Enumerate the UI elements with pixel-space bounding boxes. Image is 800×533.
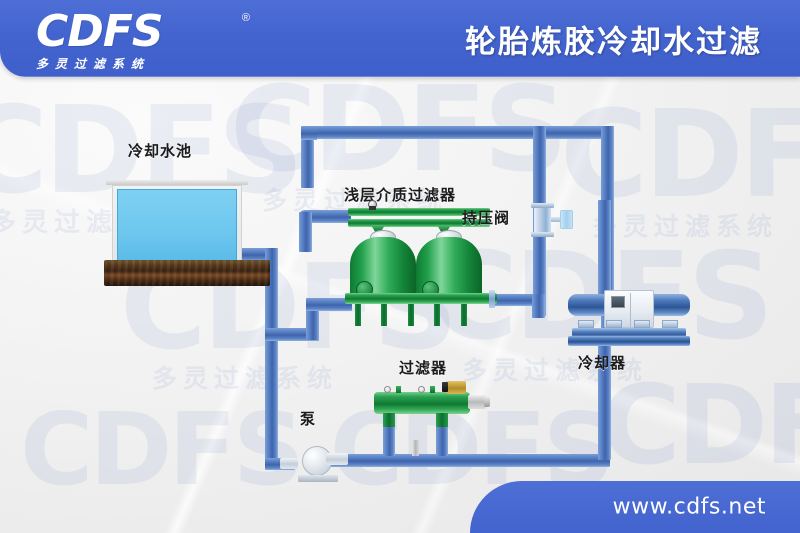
watermark-brand: CDFS [560, 96, 800, 216]
watermark-cn: 多灵过滤系统 [592, 214, 778, 239]
cooler-foot [662, 320, 678, 328]
pipe-elbow-top-left [301, 126, 317, 140]
pressure-sustaining-valve [534, 203, 578, 237]
pipe-tank-feed-drop [299, 212, 312, 252]
pipe-suction-riser [265, 330, 278, 460]
label-cooling-pool: 冷却水池 [128, 140, 192, 161]
pool-water [117, 189, 237, 266]
pipe-top-run [301, 126, 539, 139]
watermark-brand: CDFS [600, 370, 800, 480]
logo-text: CDFS [36, 6, 163, 57]
wooden-log [104, 260, 270, 286]
valve-flange-bottom [531, 232, 554, 237]
tank-leg [408, 304, 414, 326]
tank-leg [355, 304, 361, 326]
pipe-tank-outlet-riser [532, 294, 545, 318]
watermark-brand: CDFS [20, 400, 301, 500]
pump-inlet [280, 458, 298, 469]
page-footer: www.cdfs.net [470, 481, 800, 533]
diagram-canvas: CDFS 多灵过滤系统 CDFS 多灵过滤系统 CDFS 多灵过滤系统 CDFS… [0, 0, 800, 533]
page-title: 轮胎炼胶冷却水过滤 [465, 16, 762, 61]
label-cooler: 冷却器 [578, 352, 626, 373]
tank-leg [461, 304, 467, 326]
label-pressure-valve: 持压阀 [462, 207, 510, 228]
label-filter: 过滤器 [399, 357, 447, 378]
cooler-foot [578, 320, 594, 328]
pipe-filter-drain [412, 440, 419, 456]
filter-unit [374, 384, 482, 428]
cooler-bottom-pipe [568, 336, 690, 346]
filter-nozzle [396, 386, 401, 393]
valve-body [534, 205, 551, 235]
valve-actuator [560, 210, 573, 229]
filter-body [374, 392, 470, 414]
pump-base [298, 475, 338, 482]
filter-nozzle [430, 386, 435, 393]
pool-body [112, 185, 242, 271]
logo-subtitle: 多灵过滤系统 [36, 55, 256, 72]
pipe-pool-riser [301, 140, 314, 188]
pipe-cooler-feed [598, 200, 611, 296]
pump-unit [296, 446, 342, 480]
cooler-foot [606, 320, 622, 328]
media-tank-left [350, 227, 416, 303]
label-shallow-media-filter: 浅层介质过滤器 [344, 184, 456, 205]
label-pump: 泵 [300, 408, 316, 429]
logo[interactable]: CDFS ® 多灵过滤系统 [36, 10, 256, 72]
pipe-bottom-main [330, 454, 610, 467]
cooler-panel-divider [630, 293, 631, 327]
filter-end-plug [484, 397, 490, 407]
tank-leg [381, 304, 387, 326]
cooler-display-screen [611, 296, 625, 308]
valve-flange-top [531, 203, 554, 208]
manifold-bottom [345, 293, 497, 304]
pump-outlet [326, 453, 348, 465]
filter-gauge-icon [384, 386, 391, 393]
cooler-foot [634, 320, 650, 328]
cooling-water-pool [112, 185, 242, 271]
filter-gauge-icon [418, 386, 425, 393]
watermark-cn: 多灵过滤系统 [152, 366, 338, 391]
manifold-flange [489, 290, 495, 308]
filter-neck-right [436, 413, 448, 427]
page-header: CDFS ® 多灵过滤系统 轮胎炼胶冷却水过滤 [0, 0, 800, 77]
filter-neck-left [383, 413, 395, 427]
filter-brass-valve [446, 381, 466, 394]
media-tank-right [416, 227, 482, 303]
tank-leg [434, 304, 440, 326]
manifold-gauge-stem [369, 206, 376, 210]
registered-trademark-icon: ® [242, 12, 250, 24]
cooler-unit [568, 290, 690, 346]
website-url[interactable]: www.cdfs.net [613, 495, 766, 520]
